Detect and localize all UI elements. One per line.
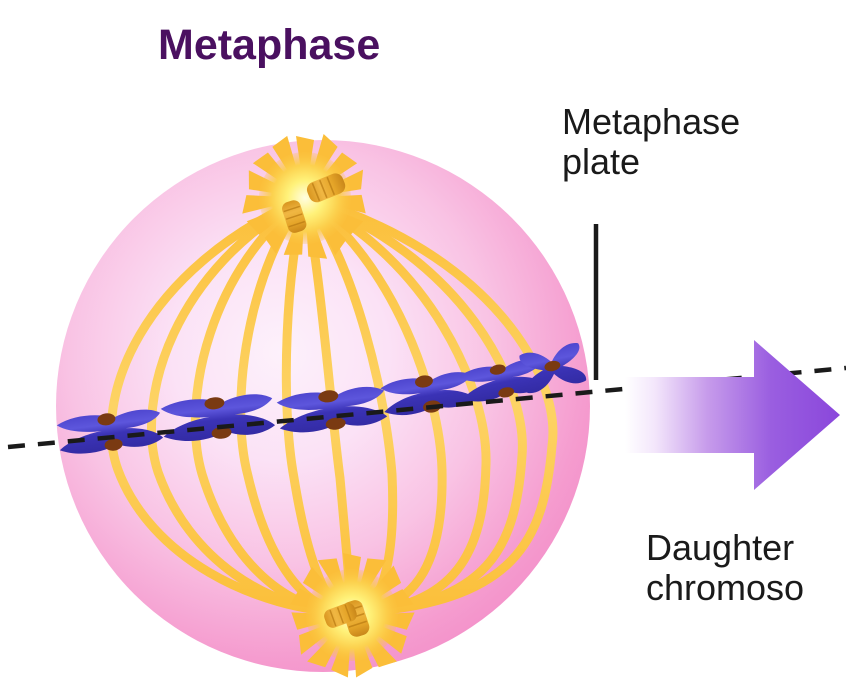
daughter-chromosomes-label: Daughter chromoso: [646, 528, 804, 609]
diagram-canvas: Metaphase Metaphase plate Daughter chrom…: [0, 0, 846, 693]
page-title: Metaphase: [158, 22, 380, 69]
transition-arrow: [625, 340, 840, 490]
metaphase-plate-label: Metaphase plate: [562, 102, 740, 183]
